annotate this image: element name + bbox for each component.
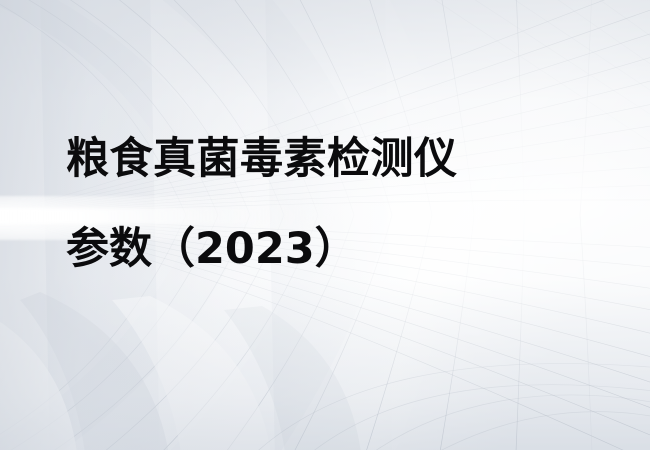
title-line-primary: 粮食真菌毒素检测仪 (66, 138, 586, 181)
page-title: 粮食真菌毒素检测仪 参数（2023） (66, 138, 586, 271)
title-line-secondary: 参数（2023） (66, 228, 586, 271)
banner-canvas: 粮食真菌毒素检测仪 参数（2023） (0, 0, 650, 450)
